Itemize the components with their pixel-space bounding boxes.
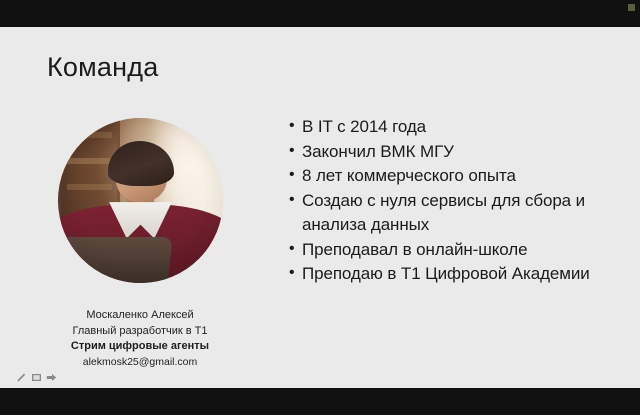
list-item: 8 лет коммерческого опыта	[289, 164, 609, 189]
speaker-portrait-circle	[58, 118, 223, 283]
speaker-email: alekmosk25@gmail.com	[40, 355, 240, 371]
list-item: В IT с 2014 года	[289, 115, 609, 140]
photo-vignette	[58, 118, 223, 283]
recording-indicator	[628, 4, 635, 11]
list-item: Закончил ВМК МГУ	[289, 140, 609, 165]
list-item: Преподавал в онлайн-школе	[289, 238, 609, 263]
list-item: Создаю с нуля сервисы для сбора и анализ…	[289, 189, 609, 238]
video-player-frame: Команда Москаленко Алексей Главный разра…	[0, 0, 640, 415]
slide-toolbar[interactable]	[16, 372, 57, 383]
speaker-role: Главный разработчик в Т1	[40, 324, 240, 340]
letterbox-top	[0, 0, 640, 27]
presentation-slide: Команда Москаленко Алексей Главный разра…	[0, 27, 640, 388]
arrow-right-icon[interactable]	[46, 372, 57, 383]
pencil-icon[interactable]	[16, 372, 27, 383]
screen-icon[interactable]	[31, 372, 42, 383]
stream-name: Стрим цифровые агенты	[40, 339, 240, 355]
speaker-photo	[58, 118, 223, 283]
speaker-name: Москаленко Алексей	[40, 308, 240, 324]
letterbox-bottom	[0, 388, 640, 415]
page-title: Команда	[47, 53, 158, 83]
bullet-list: В IT с 2014 года Закончил ВМК МГУ 8 лет …	[289, 115, 609, 287]
speaker-caption: Москаленко Алексей Главный разработчик в…	[40, 308, 240, 370]
list-item: Преподаю в Т1 Цифровой Академии	[289, 262, 609, 287]
